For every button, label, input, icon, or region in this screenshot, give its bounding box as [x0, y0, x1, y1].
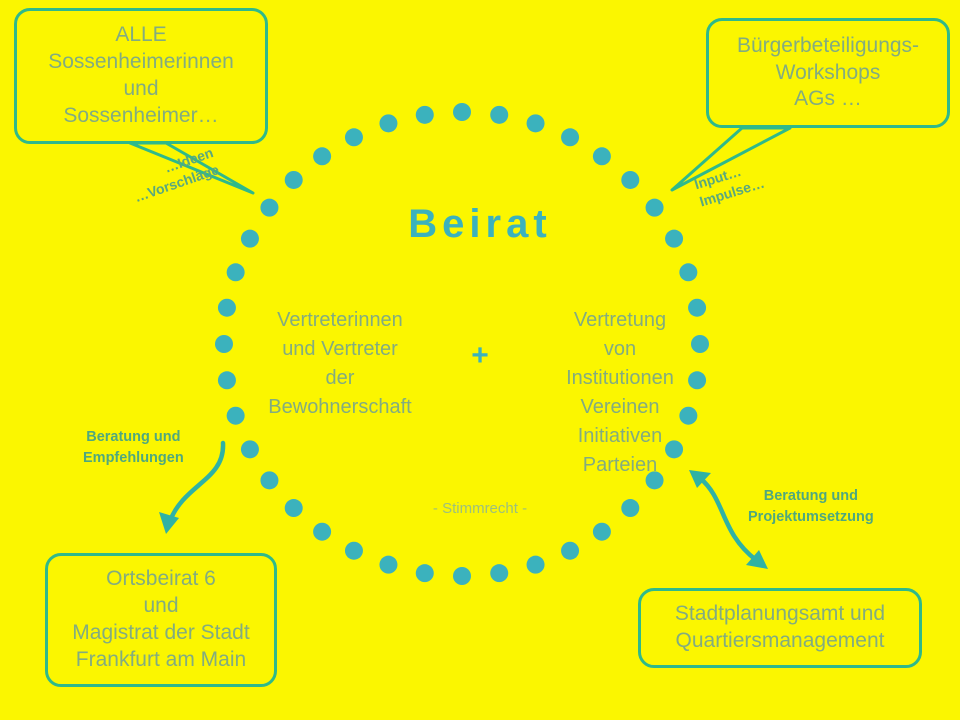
callout-all-residents-line-2: und	[123, 76, 158, 103]
callout-workshops-line-2: AGs …	[794, 86, 862, 113]
arrow-label-beratung-projekt-line-0: Beratung und	[748, 486, 874, 507]
ring-dot	[527, 114, 545, 132]
callout-workshops-line-1: Workshops	[776, 60, 881, 87]
members-residents-line-3: Bewohnerschaft	[245, 393, 435, 422]
members-institutions-line-1: von	[525, 335, 715, 364]
plus-icon: +	[455, 334, 505, 378]
page-title: Beirat	[0, 202, 960, 247]
ring-dot	[227, 263, 245, 281]
ring-dot	[561, 542, 579, 560]
members-institutions-line-4: Initiativen	[525, 422, 715, 451]
callout-all-residents[interactable]: ALLE Sossenheimerinnen und Sossenheimer…	[14, 8, 268, 144]
ring-dot	[593, 147, 611, 165]
members-institutions-line-0: Vertretung	[525, 306, 715, 335]
ring-dot	[227, 407, 245, 425]
ring-dot	[621, 171, 639, 189]
ring-dot	[679, 263, 697, 281]
ring-dot	[345, 128, 363, 146]
ring-dot	[379, 114, 397, 132]
ring-dot	[490, 106, 508, 124]
arrow-label-beratung-projektumsetzung: Beratung und Projektumsetzung	[748, 486, 874, 528]
members-column-residents: Vertreterinnen und Vertreter der Bewohne…	[245, 306, 435, 422]
ring-dot	[379, 556, 397, 574]
members-column-institutions: Vertretung von Institutionen Vereinen In…	[525, 306, 715, 480]
ring-dot	[453, 567, 471, 585]
callout-workshops-line-0: Bürgerbeteiligungs-	[737, 33, 919, 60]
members-residents-line-0: Vertreterinnen	[245, 306, 435, 335]
members-residents-line-2: der	[245, 364, 435, 393]
members-columns: Vertreterinnen und Vertreter der Bewohne…	[245, 306, 715, 480]
ring-dot	[490, 564, 508, 582]
callout-all-residents-line-1: Sossenheimerinnen	[48, 49, 234, 76]
ring-dot	[313, 147, 331, 165]
ring-dot	[285, 171, 303, 189]
ring-dot	[593, 523, 611, 541]
members-institutions-line-5: Parteien	[525, 451, 715, 480]
ring-dot	[561, 128, 579, 146]
members-institutions-line-2: Institutionen	[525, 364, 715, 393]
box-ortsbeirat-line-1: und	[143, 593, 178, 620]
members-residents-line-1: und Vertreter	[245, 335, 435, 364]
ring-dot	[218, 371, 236, 389]
callout-participation-workshops[interactable]: Bürgerbeteiligungs- Workshops AGs …	[706, 18, 950, 128]
callout-all-residents-line-0: ALLE	[115, 22, 166, 49]
ring-dot	[416, 106, 434, 124]
box-ortsbeirat-magistrat[interactable]: Ortsbeirat 6 und Magistrat der Stadt Fra…	[45, 553, 277, 687]
diagram-canvas: ALLE Sossenheimerinnen und Sossenheimer……	[0, 0, 960, 720]
callout-all-residents-line-3: Sossenheimer…	[63, 103, 218, 130]
members-institutions-line-3: Vereinen	[525, 393, 715, 422]
arrow-label-beratung-empfehlungen-line-0: Beratung und	[83, 427, 184, 448]
ring-dot	[345, 542, 363, 560]
ring-dot	[313, 523, 331, 541]
box-stadtplanung-line-0: Stadtplanungsamt und	[675, 601, 885, 628]
arrow-label-beratung-projekt-line-1: Projektumsetzung	[748, 507, 874, 528]
box-stadtplanung-line-1: Quartiersmanagement	[676, 628, 885, 655]
box-ortsbeirat-line-3: Frankfurt am Main	[76, 647, 246, 674]
arrow-label-beratung-empfehlungen-line-1: Empfehlungen	[83, 448, 184, 469]
ring-dot	[453, 103, 471, 121]
arrow-label-beratung-empfehlungen: Beratung und Empfehlungen	[83, 427, 184, 469]
box-ortsbeirat-line-0: Ortsbeirat 6	[106, 566, 216, 593]
arrow-beratung-projekt-head-down	[746, 550, 768, 569]
flow-label-ideen: …Ideen …Vorschläge	[126, 143, 221, 206]
box-ortsbeirat-line-2: Magistrat der Stadt	[72, 620, 249, 647]
ring-dot	[218, 299, 236, 317]
ring-dot	[527, 556, 545, 574]
box-stadtplanungsamt-quartiersmanagement[interactable]: Stadtplanungsamt und Quartiersmanagement	[638, 588, 922, 668]
ring-dot	[416, 564, 434, 582]
ring-dot	[215, 335, 233, 353]
